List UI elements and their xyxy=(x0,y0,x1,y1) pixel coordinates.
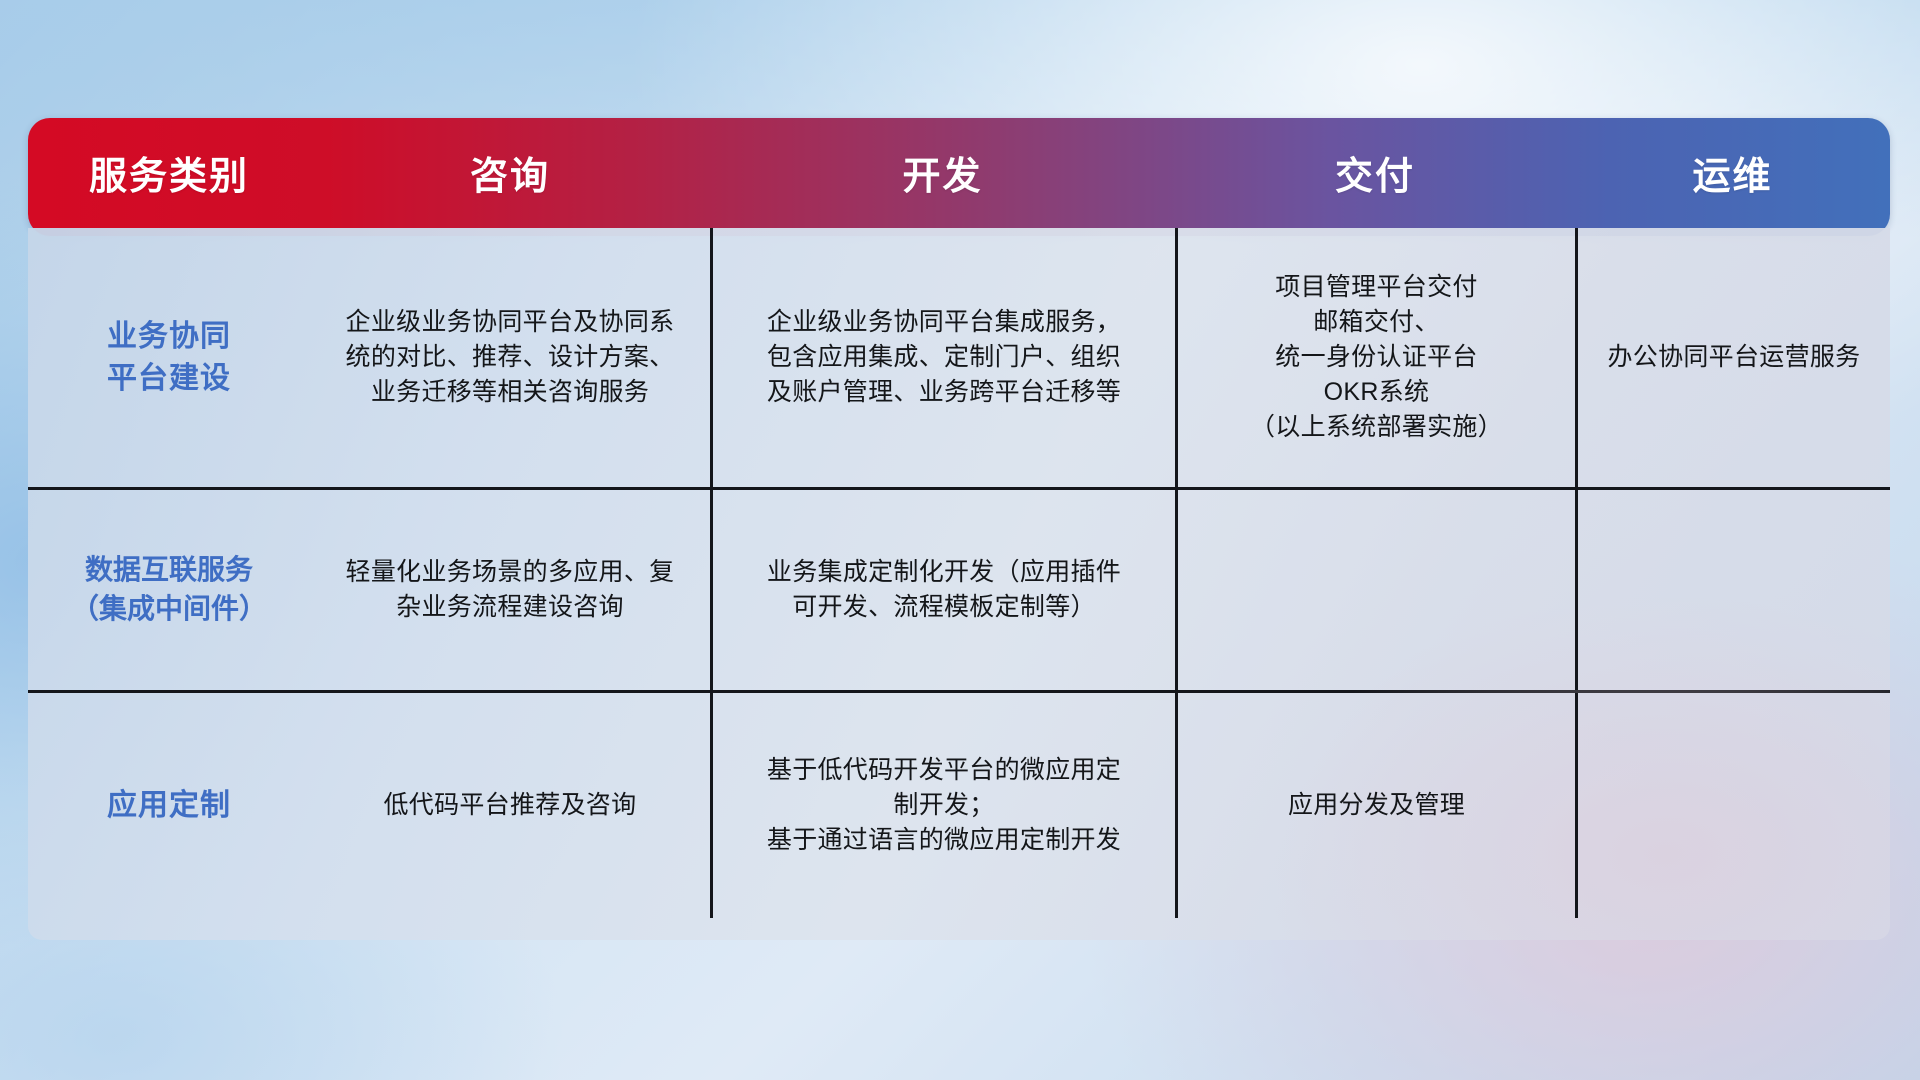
cell-consulting-row-3: 低代码平台推荐及咨询 xyxy=(310,693,710,918)
cell-delivery-row-2 xyxy=(1175,490,1575,690)
cell-text: 低代码平台推荐及咨询 xyxy=(383,788,636,823)
cell-text: 应用分发及管理 xyxy=(1288,788,1465,823)
cell-operations-row-1: 办公协同平台运营服务 xyxy=(1575,228,1890,487)
cell-delivery-row-1: 项目管理平台交付 邮箱交付、 统一身份认证平台 OKR系统 （以上系统部署实施） xyxy=(1175,228,1575,487)
category-label: 数据互联服务 （集成中间件） xyxy=(71,551,267,628)
cell-text: 企业级业务协同平台集成服务， 包含应用集成、定制门户、组织 及账户管理、业务跨平… xyxy=(767,305,1121,410)
table-row: 应用定制 低代码平台推荐及咨询 基于低代码开发平台的微应用定 制开发； 基于通过… xyxy=(28,690,1890,918)
cell-text: 企业级业务协同平台及协同系 统的对比、推荐、设计方案、 业务迁移等相关咨询服务 xyxy=(346,305,675,410)
column-header-operations: 运维 xyxy=(1575,152,1890,202)
cell-category-row-1: 业务协同 平台建设 xyxy=(28,228,310,487)
table-row: 业务协同 平台建设 企业级业务协同平台及协同系 统的对比、推荐、设计方案、 业务… xyxy=(28,228,1890,487)
column-header-development: 开发 xyxy=(710,152,1175,202)
cell-consulting-row-1: 企业级业务协同平台及协同系 统的对比、推荐、设计方案、 业务迁移等相关咨询服务 xyxy=(310,228,710,487)
cell-development-row-3: 基于低代码开发平台的微应用定 制开发； 基于通过语言的微应用定制开发 xyxy=(710,693,1175,918)
table-header-row: 服务类别 咨询 开发 交付 运维 xyxy=(28,118,1890,236)
service-matrix-table: 服务类别 咨询 开发 交付 运维 业务协同 平台建设 企业级业务协同平台及协同系… xyxy=(28,118,1890,948)
cell-development-row-1: 企业级业务协同平台集成服务， 包含应用集成、定制门户、组织 及账户管理、业务跨平… xyxy=(710,228,1175,487)
cell-consulting-row-2: 轻量化业务场景的多应用、复 杂业务流程建设咨询 xyxy=(310,490,710,690)
column-header-delivery-label: 交付 xyxy=(1335,158,1415,196)
column-header-category-label: 服务类别 xyxy=(89,158,249,196)
column-header-category: 服务类别 xyxy=(28,152,310,202)
cell-delivery-row-3: 应用分发及管理 xyxy=(1175,693,1575,918)
column-header-development-label: 开发 xyxy=(902,158,982,196)
cell-text: 项目管理平台交付 邮箱交付、 统一身份认证平台 OKR系统 （以上系统部署实施） xyxy=(1250,270,1503,445)
column-header-consulting-label: 咨询 xyxy=(470,158,550,196)
cell-text: 基于低代码开发平台的微应用定 制开发； 基于通过语言的微应用定制开发 xyxy=(767,753,1121,858)
table-row: 数据互联服务 （集成中间件） 轻量化业务场景的多应用、复 杂业务流程建设咨询 业… xyxy=(28,487,1890,690)
category-label: 应用定制 xyxy=(107,785,231,826)
cell-operations-row-2 xyxy=(1575,490,1890,690)
column-header-delivery: 交付 xyxy=(1175,152,1575,202)
cell-operations-row-3 xyxy=(1575,693,1890,918)
column-header-consulting: 咨询 xyxy=(310,152,710,202)
cell-category-row-2: 数据互联服务 （集成中间件） xyxy=(28,490,310,690)
table-body: 业务协同 平台建设 企业级业务协同平台及协同系 统的对比、推荐、设计方案、 业务… xyxy=(28,228,1890,940)
cell-text: 业务集成定制化开发（应用插件 可开发、流程模板定制等） xyxy=(767,555,1121,625)
column-header-operations-label: 运维 xyxy=(1692,158,1772,196)
cell-development-row-2: 业务集成定制化开发（应用插件 可开发、流程模板定制等） xyxy=(710,490,1175,690)
cell-text: 轻量化业务场景的多应用、复 杂业务流程建设咨询 xyxy=(346,555,675,625)
cell-category-row-3: 应用定制 xyxy=(28,693,310,918)
cell-text: 办公协同平台运营服务 xyxy=(1607,340,1860,375)
category-label: 业务协同 平台建设 xyxy=(107,316,231,399)
